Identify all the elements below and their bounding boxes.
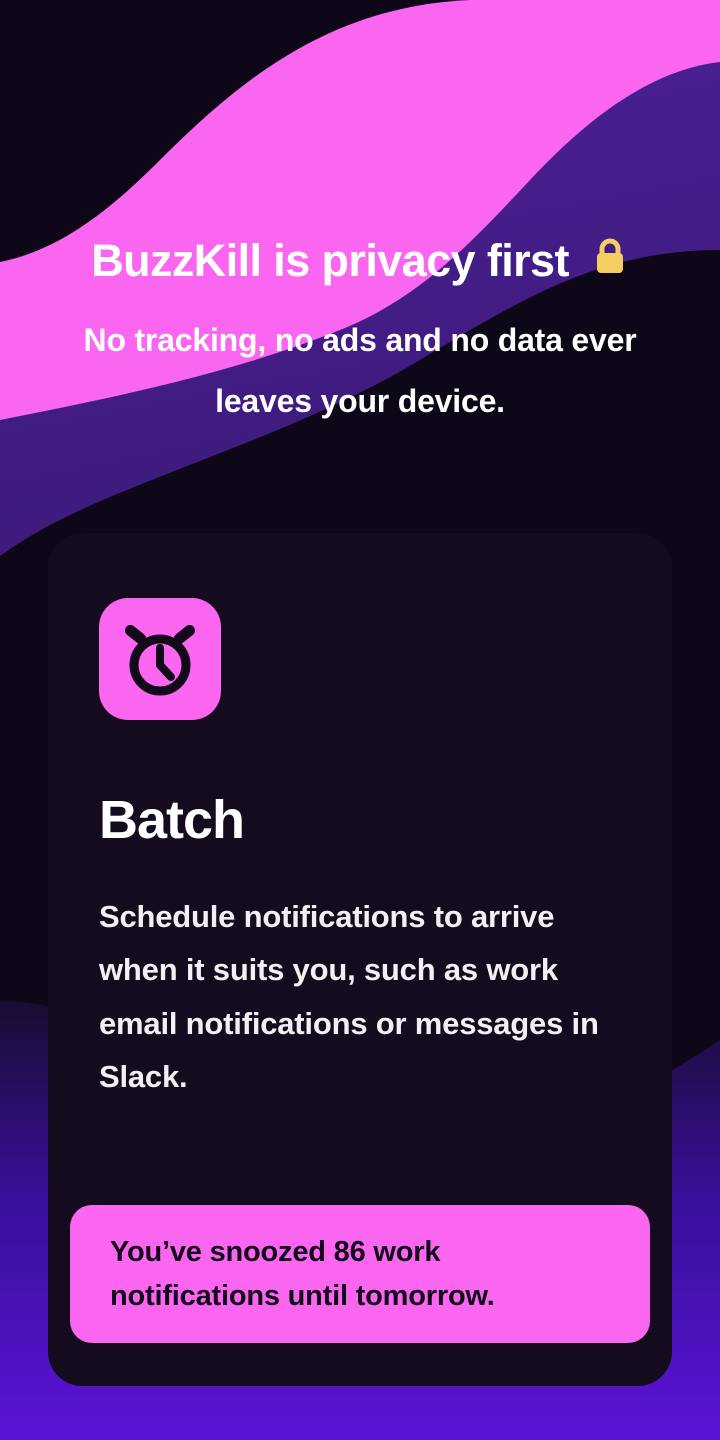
card-title: Batch bbox=[99, 793, 244, 847]
app-screen: BuzzKill is privacy first No tracking, n… bbox=[0, 0, 720, 1440]
hero-section: BuzzKill is privacy first No tracking, n… bbox=[0, 236, 720, 431]
hero-title-text: BuzzKill is privacy first bbox=[91, 235, 569, 286]
hero-subtitle: No tracking, no ads and no data ever lea… bbox=[0, 310, 720, 430]
notification-preview-banner[interactable]: You’ve snoozed 86 work notifications unt… bbox=[70, 1205, 650, 1343]
alarm-clock-icon bbox=[99, 598, 221, 720]
hero-title: BuzzKill is privacy first bbox=[0, 236, 720, 288]
notification-preview-text: You’ve snoozed 86 work notifications unt… bbox=[70, 1230, 650, 1318]
lock-icon bbox=[591, 236, 629, 288]
feature-card-batch[interactable]: Batch Schedule notifications to arrive w… bbox=[48, 533, 672, 1386]
card-description: Schedule notifications to arrive when it… bbox=[99, 890, 627, 1103]
